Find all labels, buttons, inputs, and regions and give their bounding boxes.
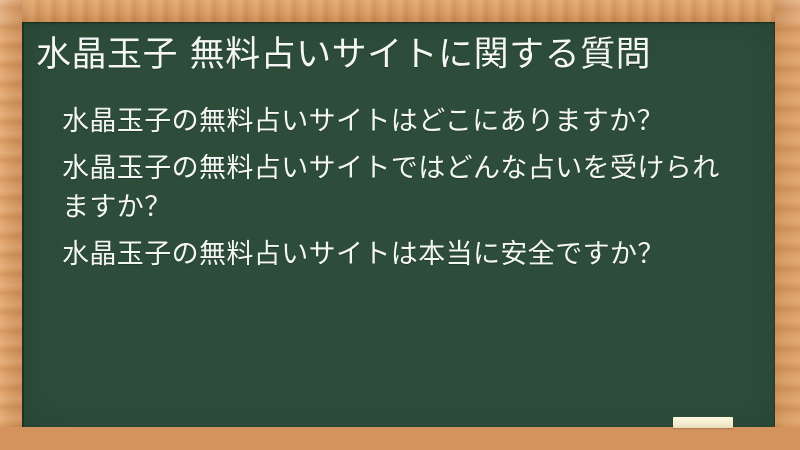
list-item: 水晶玉子の無料占いサイトは本当に安全ですか？	[62, 236, 761, 275]
page-title: 水晶玉子 無料占いサイトに関する質問	[36, 33, 761, 77]
question-list: 水晶玉子の無料占いサイトはどこにありますか？ 水晶玉子の無料占いサイトではどんな…	[36, 103, 761, 275]
frame-edge-left	[0, 0, 22, 450]
list-item: 水晶玉子の無料占いサイトではどんな占いを受けられますか？	[62, 150, 761, 228]
frame-edge-right	[775, 0, 800, 450]
frame-corner-top-right	[774, 0, 800, 26]
chalkboard-frame: 水晶玉子 無料占いサイトに関する質問 水晶玉子の無料占いサイトはどこにありますか…	[0, 0, 800, 450]
chalkboard-content: 水晶玉子 無料占いサイトに関する質問 水晶玉子の無料占いサイトはどこにありますか…	[22, 22, 775, 427]
frame-edge-bottom	[0, 427, 800, 450]
frame-edge-top	[0, 0, 800, 22]
list-item: 水晶玉子の無料占いサイトはどこにありますか？	[62, 103, 761, 142]
chalkboard-surface: 水晶玉子 無料占いサイトに関する質問 水晶玉子の無料占いサイトはどこにありますか…	[22, 22, 775, 427]
chalk-stick	[673, 417, 733, 428]
